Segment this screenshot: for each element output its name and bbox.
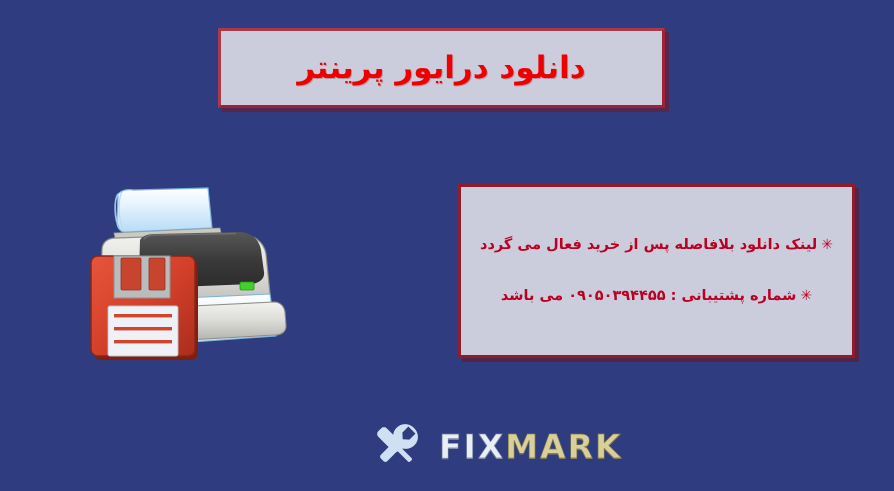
info-line-download: ✳لینک دانلود بلافاصله پس از خرید فعال می… (480, 235, 833, 256)
info-box: ✳لینک دانلود بلافاصله پس از خرید فعال می… (458, 184, 855, 358)
floppy-disk-icon (91, 256, 198, 360)
info-line-support-text: شماره پشتیبانی : ۰۹۰۵۰۳۹۴۴۵۵ می باشد (501, 288, 796, 304)
brand-logo: FIXMARK (365, 415, 575, 477)
info-line-support: ✳شماره پشتیبانی : ۰۹۰۵۰۳۹۴۴۵۵ می باشد (501, 286, 812, 307)
wrench-screwdriver-icon (365, 417, 427, 475)
page-title: دانلود درایور پرینتر (297, 50, 585, 86)
printer-with-floppy-disk-icon (88, 176, 303, 362)
printer-led (240, 282, 254, 290)
title-banner: دانلود درایور پرینتر (218, 28, 665, 108)
asterisk-icon: ✳ (796, 288, 812, 304)
brand-wordmark: FIXMARK (439, 430, 623, 463)
brand-word-mark: MARK (505, 427, 622, 466)
printer-paper-top (115, 188, 212, 232)
slide-canvas: دانلود درایور پرینتر (0, 0, 894, 491)
asterisk-icon: ✳ (817, 237, 833, 253)
info-line-download-text: لینک دانلود بلافاصله پس از خرید فعال می … (480, 237, 817, 253)
brand-word-fix: FIX (439, 427, 505, 466)
